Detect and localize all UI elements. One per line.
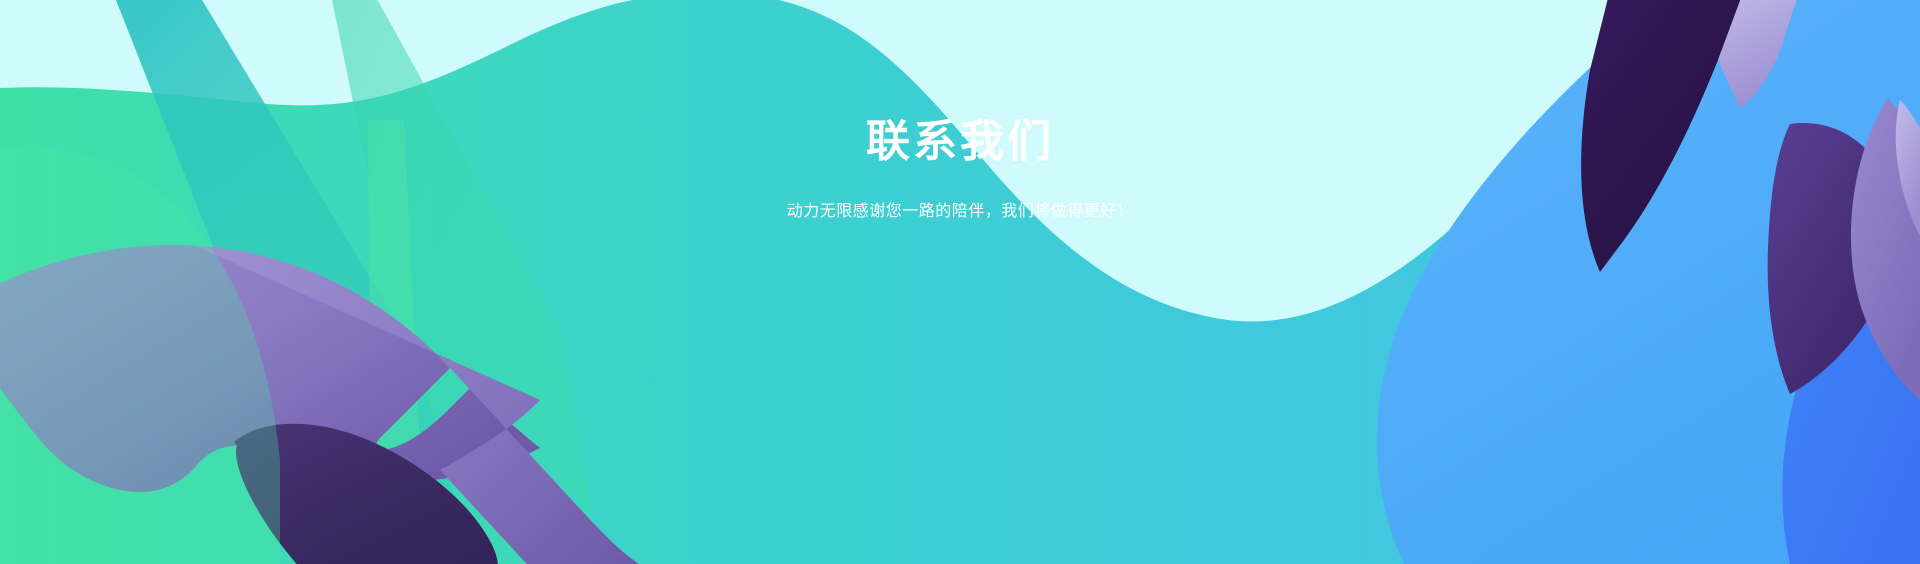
decorative-background-art (0, 0, 1920, 564)
contact-us-banner: 联系我们 动力无限感谢您一路的陪伴，我们将做得更好！ (0, 0, 1920, 564)
